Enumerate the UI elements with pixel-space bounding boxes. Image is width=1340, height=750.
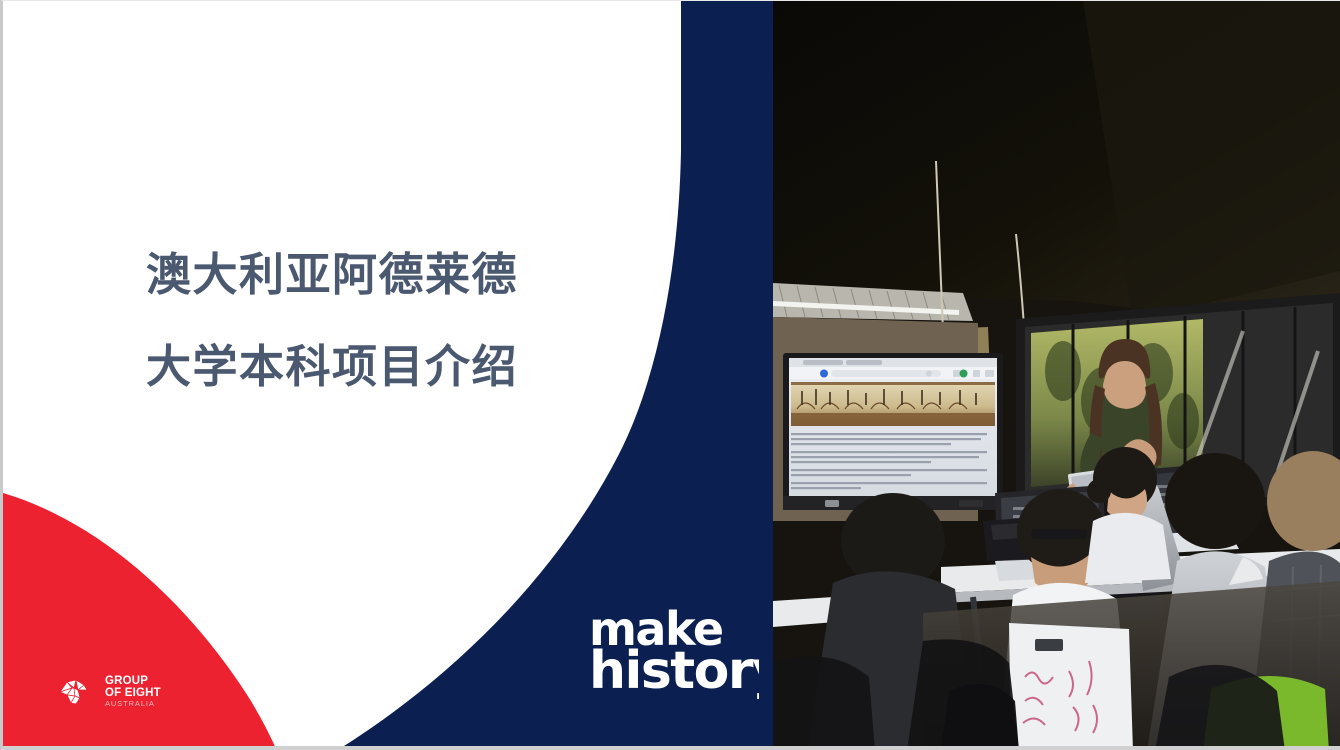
- go8-line-3: AUSTRALIA: [105, 700, 161, 708]
- wordmark-line-2: history.: [589, 649, 773, 695]
- whiteboard: [1009, 623, 1133, 750]
- go8-line-2: OF EIGHT: [105, 688, 161, 700]
- page-title-line-2: 大学本科项目介绍: [146, 321, 616, 413]
- page-title-line-1: 澳大利亚阿德莱德: [146, 229, 616, 321]
- red-curve-shape: [3, 493, 277, 750]
- group-of-eight-wordmark: GROUP OF EIGHT AUSTRALIA: [105, 676, 161, 708]
- australia-map-facets-icon: [58, 676, 98, 708]
- title-slide: 澳大利亚阿德莱德 大学本科项目介绍 make history.: [0, 0, 1340, 750]
- classroom-photo: [773, 1, 1340, 750]
- navy-gutter-strip: [759, 1, 773, 750]
- left-panel: 澳大利亚阿德莱德 大学本科项目介绍 make history.: [3, 1, 773, 750]
- page-title: 澳大利亚阿德莱德 大学本科项目介绍: [146, 229, 616, 413]
- make-history-wordmark: make history.: [589, 609, 773, 695]
- group-of-eight-logo: GROUP OF EIGHT AUSTRALIA: [58, 676, 161, 708]
